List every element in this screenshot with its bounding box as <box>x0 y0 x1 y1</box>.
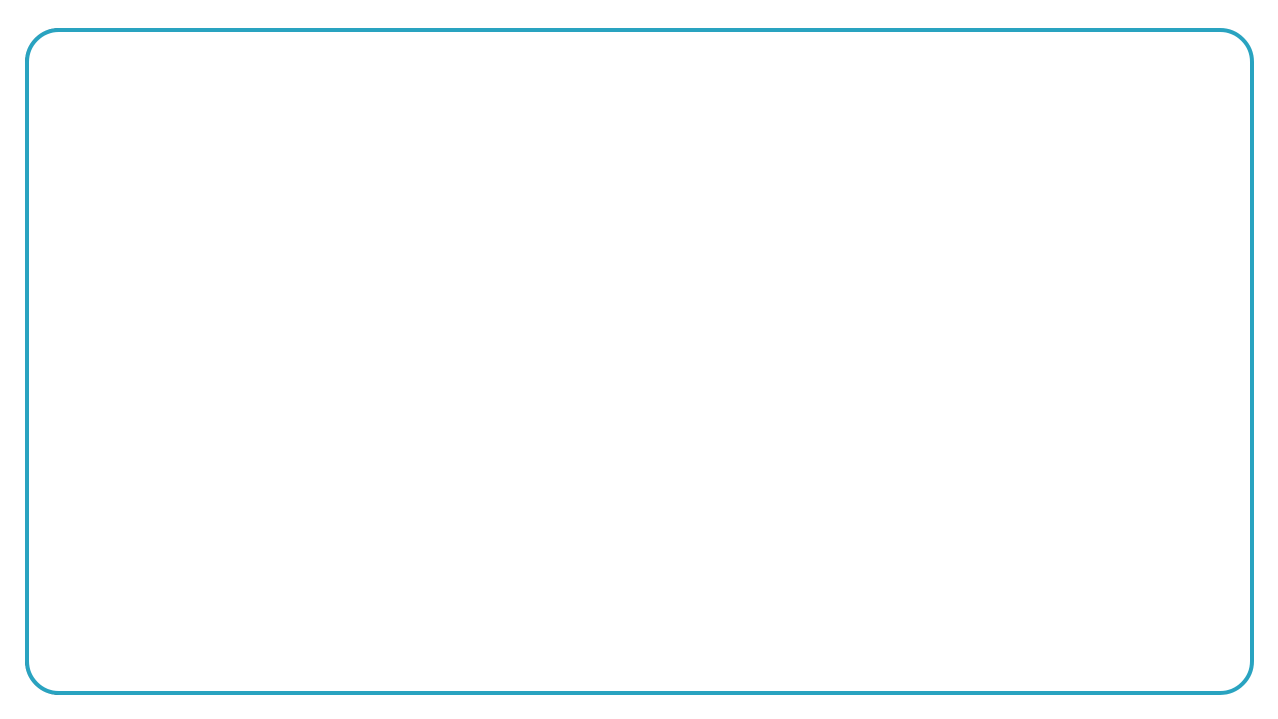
chart-bar-segment[interactable] <box>924 496 1048 532</box>
chart-bar-row[interactable]: Home Improvement <box>692 292 1115 328</box>
bullet-list: • Results are based on an estimated 65% … <box>57 286 469 487</box>
gridline <box>777 138 778 550</box>
y-axis-category-label: Healthcare <box>600 156 680 174</box>
x-axis-tick-label: 20.0% <box>754 558 801 577</box>
legend-swatch-icon <box>792 602 803 613</box>
x-axis-tick-label: 60.0% <box>924 558 971 577</box>
x-axis-tick-label: 100.0% <box>1090 558 1146 577</box>
chart-bar-segment[interactable] <box>948 428 1048 464</box>
chart-bar-segment[interactable] <box>1016 156 1068 192</box>
chart-bar-segment[interactable] <box>1028 360 1037 396</box>
legend-item[interactable]: Quick Answers <box>1020 627 1236 645</box>
chart-bar-segment[interactable] <box>1048 496 1076 532</box>
legend-item[interactable]: Regular Web Listing <box>536 598 792 616</box>
chart-bar-segment[interactable] <box>1068 156 1117 192</box>
chart-bar-segment[interactable] <box>1117 360 1118 396</box>
y-axis-category-label: Education <box>607 224 680 242</box>
y-axis-category-label: Ecommerce <box>592 496 680 514</box>
chart-bar-segment[interactable] <box>873 292 926 328</box>
presentation-slide: Content Preferences by Industry Vary • R… <box>0 0 1278 719</box>
brand-subtitle: RESEARCH <box>1064 82 1234 104</box>
legend-row: VideosCarousel <box>536 656 1236 674</box>
legend-item[interactable]: Videos <box>536 656 796 674</box>
bullet-marker-icon: • <box>57 387 77 412</box>
legend-item[interactable]: Site Link <box>1020 598 1236 616</box>
chart-bar-segment[interactable] <box>692 224 996 260</box>
chart-bar-row[interactable]: Finance <box>692 360 1118 396</box>
chart-legend: Regular Web ListingLocal 3-PackSite Link… <box>536 598 1236 685</box>
gridline <box>862 138 863 550</box>
chart-bar-segment[interactable] <box>1013 224 1080 260</box>
chart-bar-segment[interactable] <box>1111 496 1118 532</box>
chart-bar-segment[interactable] <box>996 224 1012 260</box>
x-axis-tick-label: 80.0% <box>1009 558 1056 577</box>
chart-bar-segment[interactable] <box>692 496 924 532</box>
legend-item[interactable]: Local 3-Pack <box>792 598 1020 616</box>
legend-label: Site Link <box>1038 598 1103 616</box>
chart-bar-segment[interactable] <box>1076 496 1111 532</box>
legend-label: Videos <box>554 656 606 674</box>
y-axis-category-label: Finance <box>621 360 680 378</box>
brand-name: BRIGHTEDGE <box>1084 52 1234 80</box>
chart-bar-segment[interactable] <box>1031 292 1065 328</box>
legend-label: Local 3-Pack <box>810 598 908 616</box>
chart-bar-segment[interactable] <box>1065 292 1113 328</box>
gridline <box>692 138 693 550</box>
legend-row: Regular Web ListingLocal 3-PackSite Link <box>536 598 1236 616</box>
legend-swatch-icon <box>1020 631 1031 642</box>
chart-bar-segment[interactable] <box>1048 428 1073 464</box>
slide-left-panel: Content Preferences by Industry Vary • R… <box>25 28 483 695</box>
chart-bar-segment[interactable] <box>1103 224 1119 260</box>
chart-bar-segment[interactable] <box>692 360 1028 396</box>
legend-swatch-icon <box>536 602 547 613</box>
x-axis-tick-label: 120.0% <box>1175 558 1231 577</box>
x-axis-tick-labels: 0.0%20.0%40.0%60.0%80.0%100.0%120.0% <box>692 558 1203 582</box>
legend-item[interactable]: Images <box>792 627 1020 645</box>
legend-label: Regular Web Listing <box>554 598 707 616</box>
chart-bar-segment[interactable] <box>1118 496 1121 532</box>
chart-bar-segment[interactable] <box>692 428 948 464</box>
legend-swatch-icon <box>792 631 803 642</box>
list-item: • Where users are clicking and what univ… <box>57 387 469 464</box>
chart-bar-segment[interactable] <box>1080 224 1103 260</box>
chart-plot-area: HealthcareEducationHome ImprovementFinan… <box>692 138 1203 550</box>
chart-bar-segment[interactable] <box>692 156 996 192</box>
chart-bar-row[interactable]: Ecommerce <box>692 496 1120 532</box>
page-title: Content Preferences by Industry Vary <box>59 150 459 240</box>
chart-bar-segment[interactable] <box>1074 428 1106 464</box>
bullet-text: Results are based on an estimated 65% of… <box>77 286 469 363</box>
brand-logo: BRIGHTEDGE RESEARCH <box>1064 52 1234 104</box>
legend-item[interactable]: Carousel <box>796 656 1028 674</box>
chart-bar-row[interactable]: Travel <box>692 428 1118 464</box>
chart-bar-segment[interactable] <box>1116 428 1118 464</box>
legend-swatch-icon <box>536 660 547 671</box>
legend-label: People Also Ask <box>554 627 676 645</box>
bullet-marker-icon: • <box>57 286 77 311</box>
legend-item[interactable]: People Also Ask <box>536 627 792 645</box>
chart-bar-segment[interactable] <box>1010 156 1017 192</box>
chart-bar-row[interactable]: Education <box>692 224 1119 260</box>
legend-label: Quick Answers <box>1038 627 1150 645</box>
legend-label: Carousel <box>814 656 882 674</box>
page-title-line-1: Content Preferences <box>59 150 459 195</box>
chart-bar-segment[interactable] <box>996 156 1009 192</box>
gridline <box>1203 138 1204 550</box>
y-axis-category-label: Travel <box>635 428 680 446</box>
bullet-text: Where users are clicking and what univer… <box>77 387 469 464</box>
x-axis-tick-label: 40.0% <box>839 558 886 577</box>
legend-swatch-icon <box>1020 602 1031 613</box>
chart-bar-segment[interactable] <box>1036 360 1116 396</box>
list-item: • Results are based on an estimated 65% … <box>57 286 469 363</box>
chart-bar-row[interactable]: Healthcare <box>692 156 1118 192</box>
page-title-line-2: by Industry Vary <box>59 195 459 240</box>
legend-label: Images <box>810 627 866 645</box>
stacked-bar-chart: HealthcareEducationHome ImprovementFinan… <box>496 130 1256 690</box>
y-axis-category-label: Home Improvement <box>535 292 680 310</box>
gridline <box>1118 138 1119 550</box>
legend-row: People Also AskImagesQuick Answers <box>536 627 1236 645</box>
chart-bar-segment[interactable] <box>926 292 1031 328</box>
legend-swatch-icon <box>796 660 807 671</box>
chart-bar-segment[interactable] <box>692 292 873 328</box>
x-axis-tick-label: 0.0% <box>673 558 711 577</box>
legend-swatch-icon <box>536 631 547 642</box>
gridline <box>1033 138 1034 550</box>
chart-bar-segment[interactable] <box>1113 292 1116 328</box>
gridline <box>948 138 949 550</box>
